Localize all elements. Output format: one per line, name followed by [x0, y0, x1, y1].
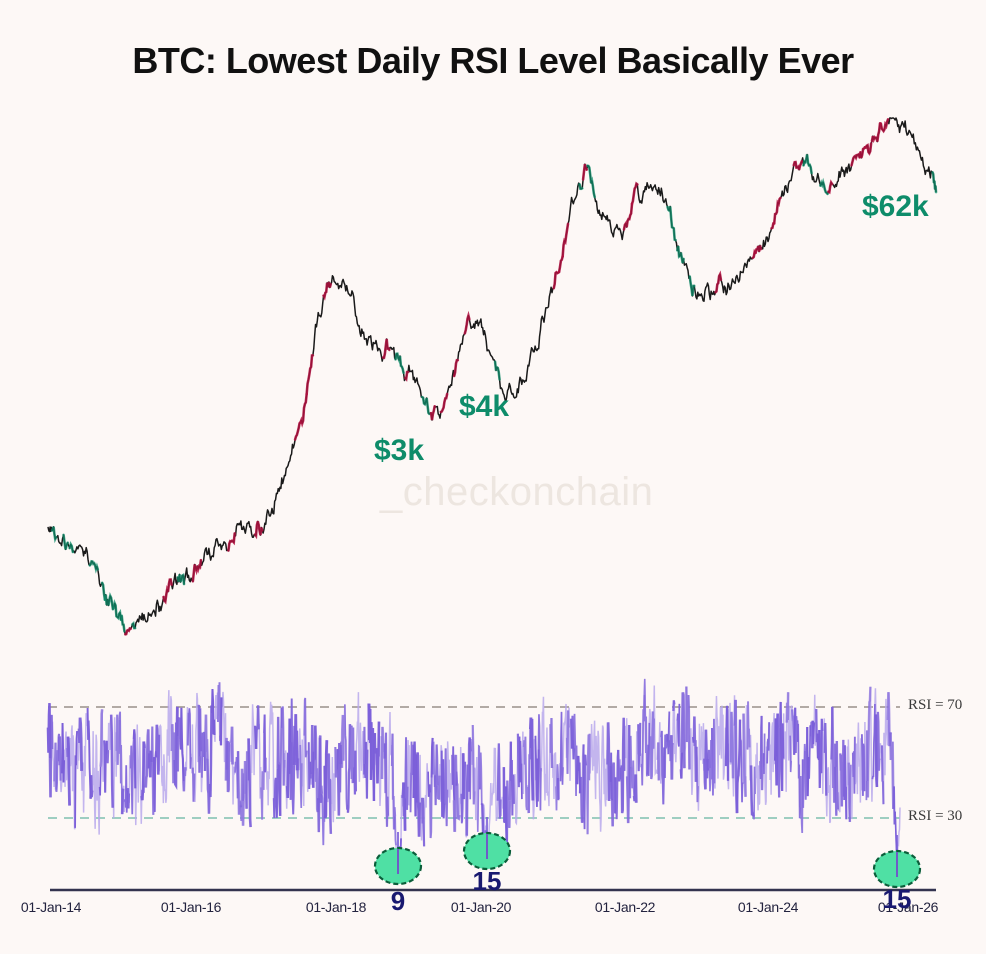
- rsi-low-marker-label-1: 9: [391, 886, 405, 917]
- price-annotation-4k: $4k: [459, 390, 509, 424]
- rsi-band-label-70: RSI = 70: [908, 697, 962, 714]
- price-annotation-62k: $62k: [862, 190, 929, 224]
- x-axis-tick-label: 01-Jan-22: [595, 899, 655, 915]
- price-annotation-3k: $3k: [374, 434, 424, 468]
- x-axis-tick-label: 01-Jan-14: [21, 899, 81, 915]
- checkonchain-watermark: _checkonchain: [380, 470, 653, 515]
- chart-root: BTC: Lowest Daily RSI Level Basically Ev…: [0, 0, 986, 954]
- x-axis-tick-label: 01-Jan-20: [451, 899, 511, 915]
- rsi-low-marker-label-3: 15: [883, 884, 912, 915]
- rsi-low-marker-label-2: 15: [473, 866, 502, 897]
- x-axis-tick-label: 01-Jan-18: [306, 899, 366, 915]
- rsi-low-markers: [375, 833, 920, 887]
- x-axis-tick-label: 01-Jan-24: [738, 899, 798, 915]
- btc-price-series: [48, 118, 936, 634]
- x-axis-tick-label: 01-Jan-16: [161, 899, 221, 915]
- rsi-band-label-30: RSI = 30: [908, 808, 962, 825]
